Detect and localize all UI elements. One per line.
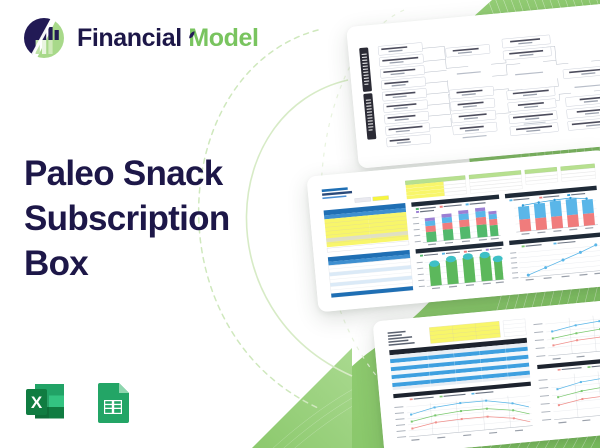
leaf-accent-icon [187,30,197,40]
page-title-line-3: Box [24,242,274,287]
brand-word-accent: Model [188,24,258,52]
circle-bar-chart-logo-icon [22,16,66,60]
google-sheets-icon[interactable] [89,378,137,426]
page-title-line-2: Subscription [24,197,274,242]
financial-dashboard-card[interactable] [306,150,600,313]
brand-word-primary: Financial [77,24,182,52]
file-format-icons: X [22,378,137,426]
poster-canvas: Financial Model Paleo Snack Subscription… [0,0,600,448]
dashboard-screenshot [306,150,600,313]
brand-wordmark: Financial Model [77,26,259,51]
microsoft-excel-icon[interactable]: X [22,378,70,426]
projections-screenshot [373,295,600,448]
brand-logo[interactable]: Financial Model [22,16,259,60]
page-title-line-1: Paleo Snack [24,152,274,197]
financial-ratio-tree-card[interactable] [346,1,600,168]
ratio-tree-diagram [346,1,600,168]
financial-projections-card[interactable] [373,295,600,448]
page-title: Paleo Snack Subscription Box [24,152,274,286]
svg-text:X: X [31,393,43,412]
